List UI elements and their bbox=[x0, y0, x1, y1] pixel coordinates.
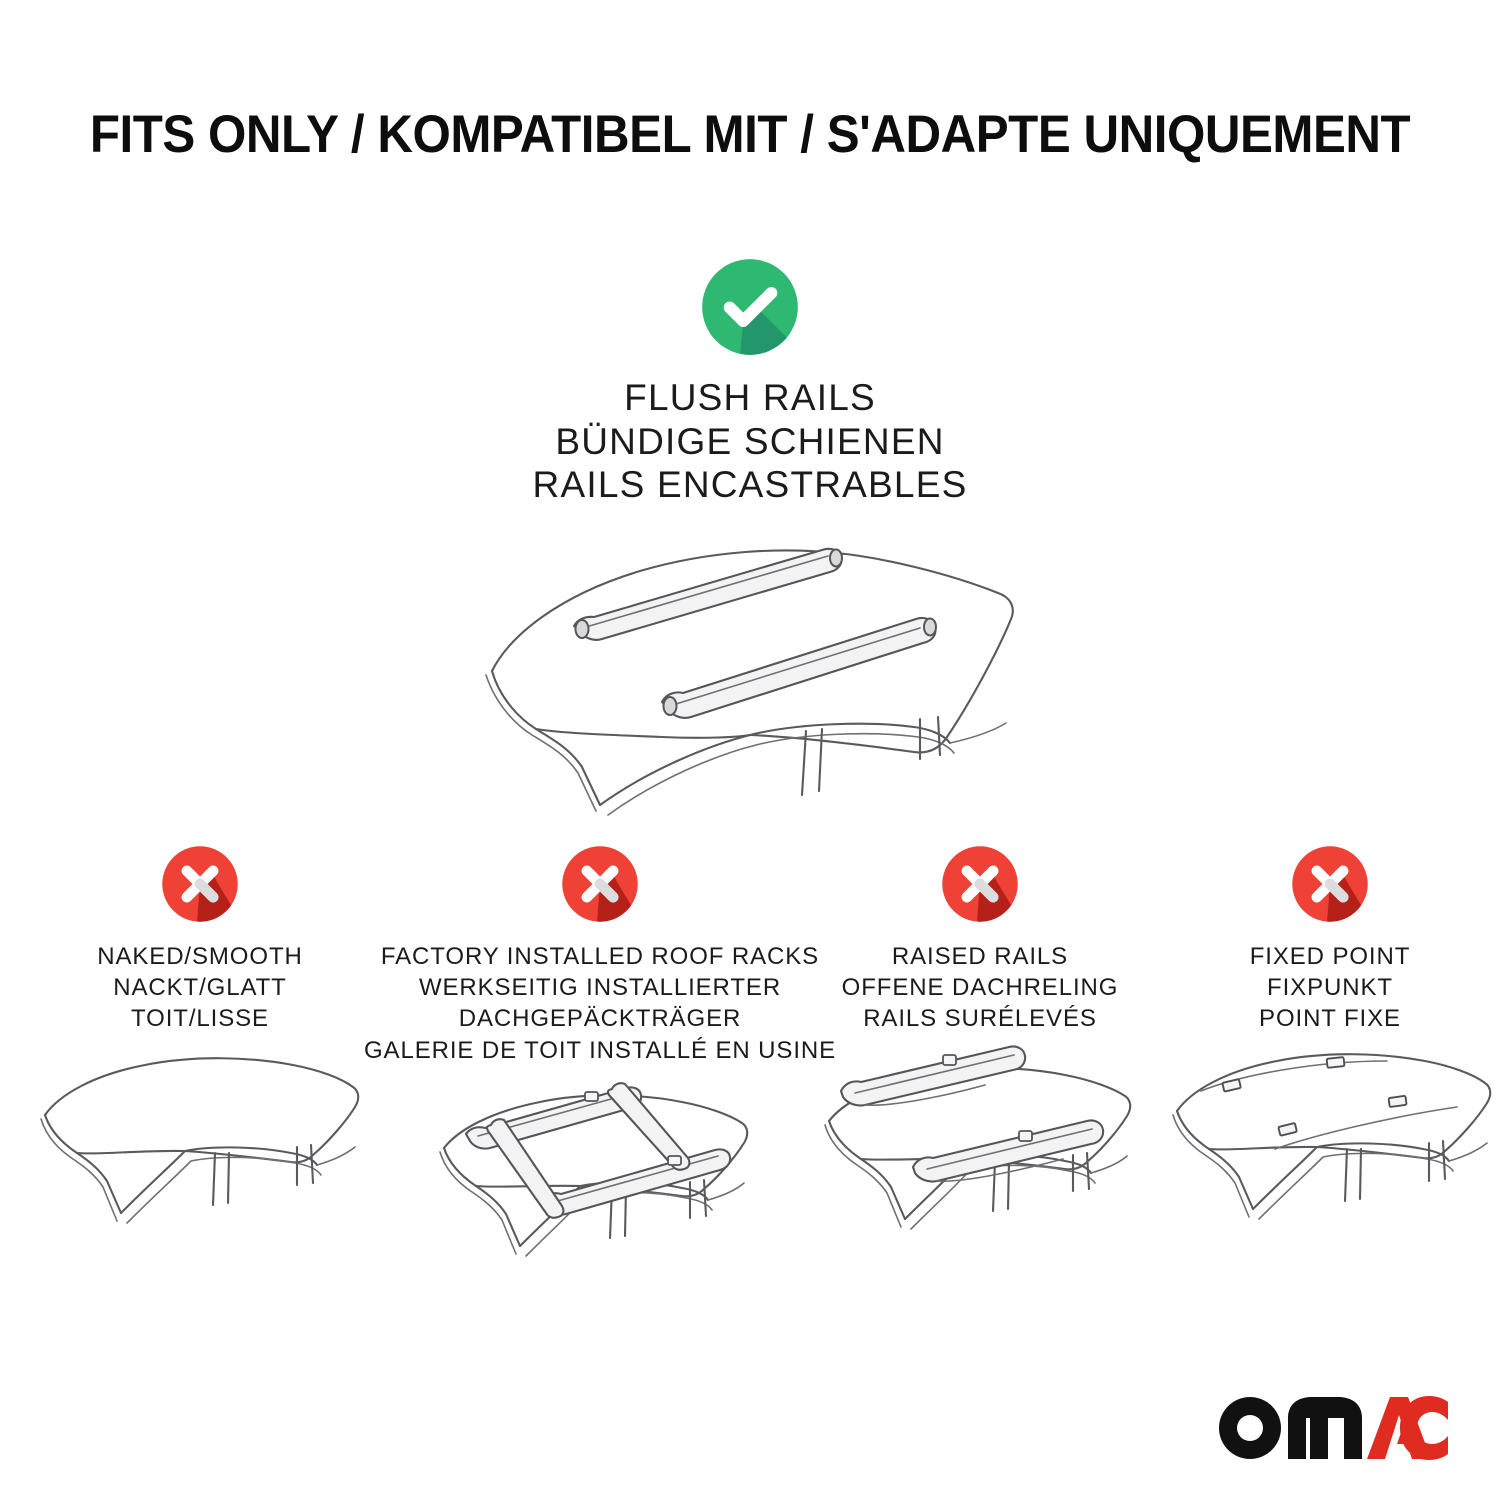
compatible-line-2: BÜNDIGE SCHIENEN bbox=[533, 420, 968, 464]
logo-letter-o bbox=[1219, 1397, 1281, 1459]
caption-line: DACHGEPÄCKTRÄGER bbox=[364, 1003, 836, 1034]
incompatible-item-naked-smooth: NAKED/SMOOTH NACKT/GLATT TOIT/LISSE bbox=[0, 843, 400, 1255]
omac-logo: OMAC bbox=[1212, 1390, 1448, 1462]
cross-circle-icon bbox=[939, 843, 1021, 925]
incompatible-caption-factory-racks: FACTORY INSTALLED ROOF RACKS WERKSEITIG … bbox=[364, 941, 836, 1066]
car-roof-factory-racks-illustration bbox=[430, 1076, 770, 1286]
cross-circle-icon bbox=[559, 843, 641, 925]
cross-circle-icon bbox=[1289, 843, 1371, 925]
caption-line: NACKT/GLATT bbox=[97, 972, 302, 1003]
cross-circle-icon bbox=[159, 843, 241, 925]
car-roof-naked-illustration bbox=[35, 1045, 365, 1255]
incompatible-caption-naked-smooth: NAKED/SMOOTH NACKT/GLATT TOIT/LISSE bbox=[97, 941, 302, 1035]
caption-line: TOIT/LISSE bbox=[97, 1003, 302, 1034]
caption-line: NAKED/SMOOTH bbox=[97, 941, 302, 972]
caption-line: RAISED RAILS bbox=[842, 941, 1119, 972]
incompatible-item-raised-rails: RAISED RAILS OFFENE DACHRELING RAILS SUR… bbox=[800, 843, 1160, 1255]
incompatible-section: NAKED/SMOOTH NACKT/GLATT TOIT/LISSE bbox=[0, 843, 1500, 1286]
incompatible-caption-raised-rails: RAISED RAILS OFFENE DACHRELING RAILS SUR… bbox=[842, 941, 1119, 1035]
compatible-caption: FLUSH RAILS BÜNDIGE SCHIENEN RAILS ENCAS… bbox=[533, 376, 968, 507]
logo-letter-m bbox=[1288, 1397, 1362, 1459]
compatible-section: FLUSH RAILS BÜNDIGE SCHIENEN RAILS ENCAS… bbox=[0, 255, 1500, 823]
caption-line: WERKSEITIG INSTALLIERTER bbox=[364, 972, 836, 1003]
incompatible-item-fixed-point: FIXED POINT FIXPUNKT POINT FIXE bbox=[1160, 843, 1500, 1255]
car-roof-fixed-point-illustration bbox=[1165, 1045, 1495, 1255]
incompatible-caption-fixed-point: FIXED POINT FIXPUNKT POINT FIXE bbox=[1250, 941, 1411, 1035]
caption-line: GALERIE DE TOIT INSTALLÉ EN USINE bbox=[364, 1035, 836, 1066]
caption-line: FIXED POINT bbox=[1250, 941, 1411, 972]
page-title: FITS ONLY / KOMPATIBEL MIT / S'ADAPTE UN… bbox=[53, 104, 1448, 165]
caption-line: RAILS SURÉLEVÉS bbox=[842, 1003, 1119, 1034]
caption-line: FACTORY INSTALLED ROOF RACKS bbox=[364, 941, 836, 972]
caption-line: POINT FIXE bbox=[1250, 1003, 1411, 1034]
caption-line: FIXPUNKT bbox=[1250, 972, 1411, 1003]
incompatible-item-factory-racks: FACTORY INSTALLED ROOF RACKS WERKSEITIG … bbox=[400, 843, 800, 1286]
compatible-line-1: FLUSH RAILS bbox=[533, 376, 968, 420]
compatible-line-3: RAILS ENCASTRABLES bbox=[533, 463, 968, 507]
check-circle-icon bbox=[698, 255, 802, 359]
car-roof-flush-rails-illustration bbox=[450, 523, 1050, 823]
caption-line: OFFENE DACHRELING bbox=[842, 972, 1119, 1003]
car-roof-raised-rails-illustration bbox=[815, 1045, 1145, 1255]
